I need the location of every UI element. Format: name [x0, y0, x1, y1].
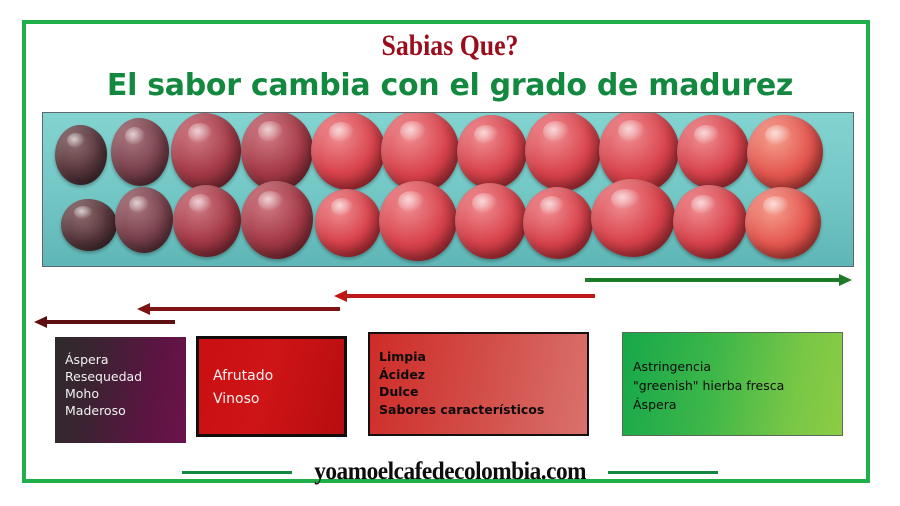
coffee-cherry — [311, 112, 385, 190]
flavor-box-optimal-line: Dulce — [379, 383, 579, 401]
coffee-cherries-photo — [42, 112, 854, 267]
flavor-box-optimal-line: Ácidez — [379, 366, 579, 384]
footer-rule-right — [608, 471, 718, 474]
footer: yoamoelcafedecolombia.com — [0, 458, 900, 486]
coffee-cherry — [379, 181, 457, 261]
footer-rule-left — [182, 471, 292, 474]
flavor-box-overripe-line: Moho — [65, 385, 178, 402]
coffee-cherry — [457, 115, 527, 189]
coffee-cherry — [315, 189, 381, 257]
flavor-box-fruity: AfrutadoVinoso — [196, 336, 347, 437]
coffee-cherry — [673, 185, 747, 259]
coffee-cherry — [171, 113, 241, 191]
coffee-cherry — [523, 187, 593, 259]
coffee-cherry — [55, 125, 107, 185]
coffee-cherry — [455, 183, 527, 259]
flavor-box-fruity-line: Vinoso — [213, 388, 336, 411]
darkest-left-arrow-shaft — [45, 320, 175, 324]
green-right-arrow-shaft — [585, 278, 841, 282]
dark-red-left-arrow-head — [137, 303, 150, 315]
coffee-cherry — [591, 179, 675, 257]
coffee-cherry — [745, 187, 821, 259]
flavor-box-unripe-line: "greenish" hierba fresca — [633, 376, 834, 395]
darkest-left-arrow-head — [34, 316, 47, 328]
red-left-arrow-shaft — [345, 294, 595, 298]
flavor-box-fruity-line: Afrutado — [213, 365, 336, 388]
flavor-box-overripe-line: Maderoso — [65, 402, 178, 419]
coffee-cherry — [747, 115, 823, 191]
coffee-cherry — [61, 199, 117, 251]
flavor-box-unripe-line: Astringencia — [633, 357, 834, 376]
flavor-box-optimal: LimpiaÁcidezDulceSabores característicos — [368, 332, 589, 436]
green-right-arrow-head — [839, 274, 852, 286]
coffee-cherry — [173, 185, 241, 257]
flavor-box-overripe: ÁsperaResequedadMohoMaderoso — [55, 337, 186, 443]
red-left-arrow-head — [334, 290, 347, 302]
flavor-box-overripe-line: Resequedad — [65, 368, 178, 385]
infographic-poster: Sabias Que? El sabor cambia con el grado… — [0, 0, 900, 506]
coffee-cherry — [111, 118, 169, 186]
coffee-cherry — [677, 115, 749, 189]
flavor-box-optimal-line: Limpia — [379, 348, 579, 366]
flavor-box-unripe: Astringencia"greenish" hierba frescaÁspe… — [622, 332, 843, 436]
page-title: Sabias Que? — [63, 30, 837, 62]
dark-red-left-arrow-shaft — [148, 307, 340, 311]
coffee-cherry — [115, 187, 173, 253]
coffee-cherry — [241, 181, 313, 259]
flavor-box-unripe-line: Áspera — [633, 395, 834, 414]
footer-website: yoamoelcafedecolombia.com — [314, 458, 586, 486]
flavor-box-overripe-line: Áspera — [65, 351, 178, 368]
flavor-box-optimal-line: Sabores característicos — [379, 401, 579, 419]
page-subtitle: El sabor cambia con el grado de madurez — [0, 68, 900, 104]
